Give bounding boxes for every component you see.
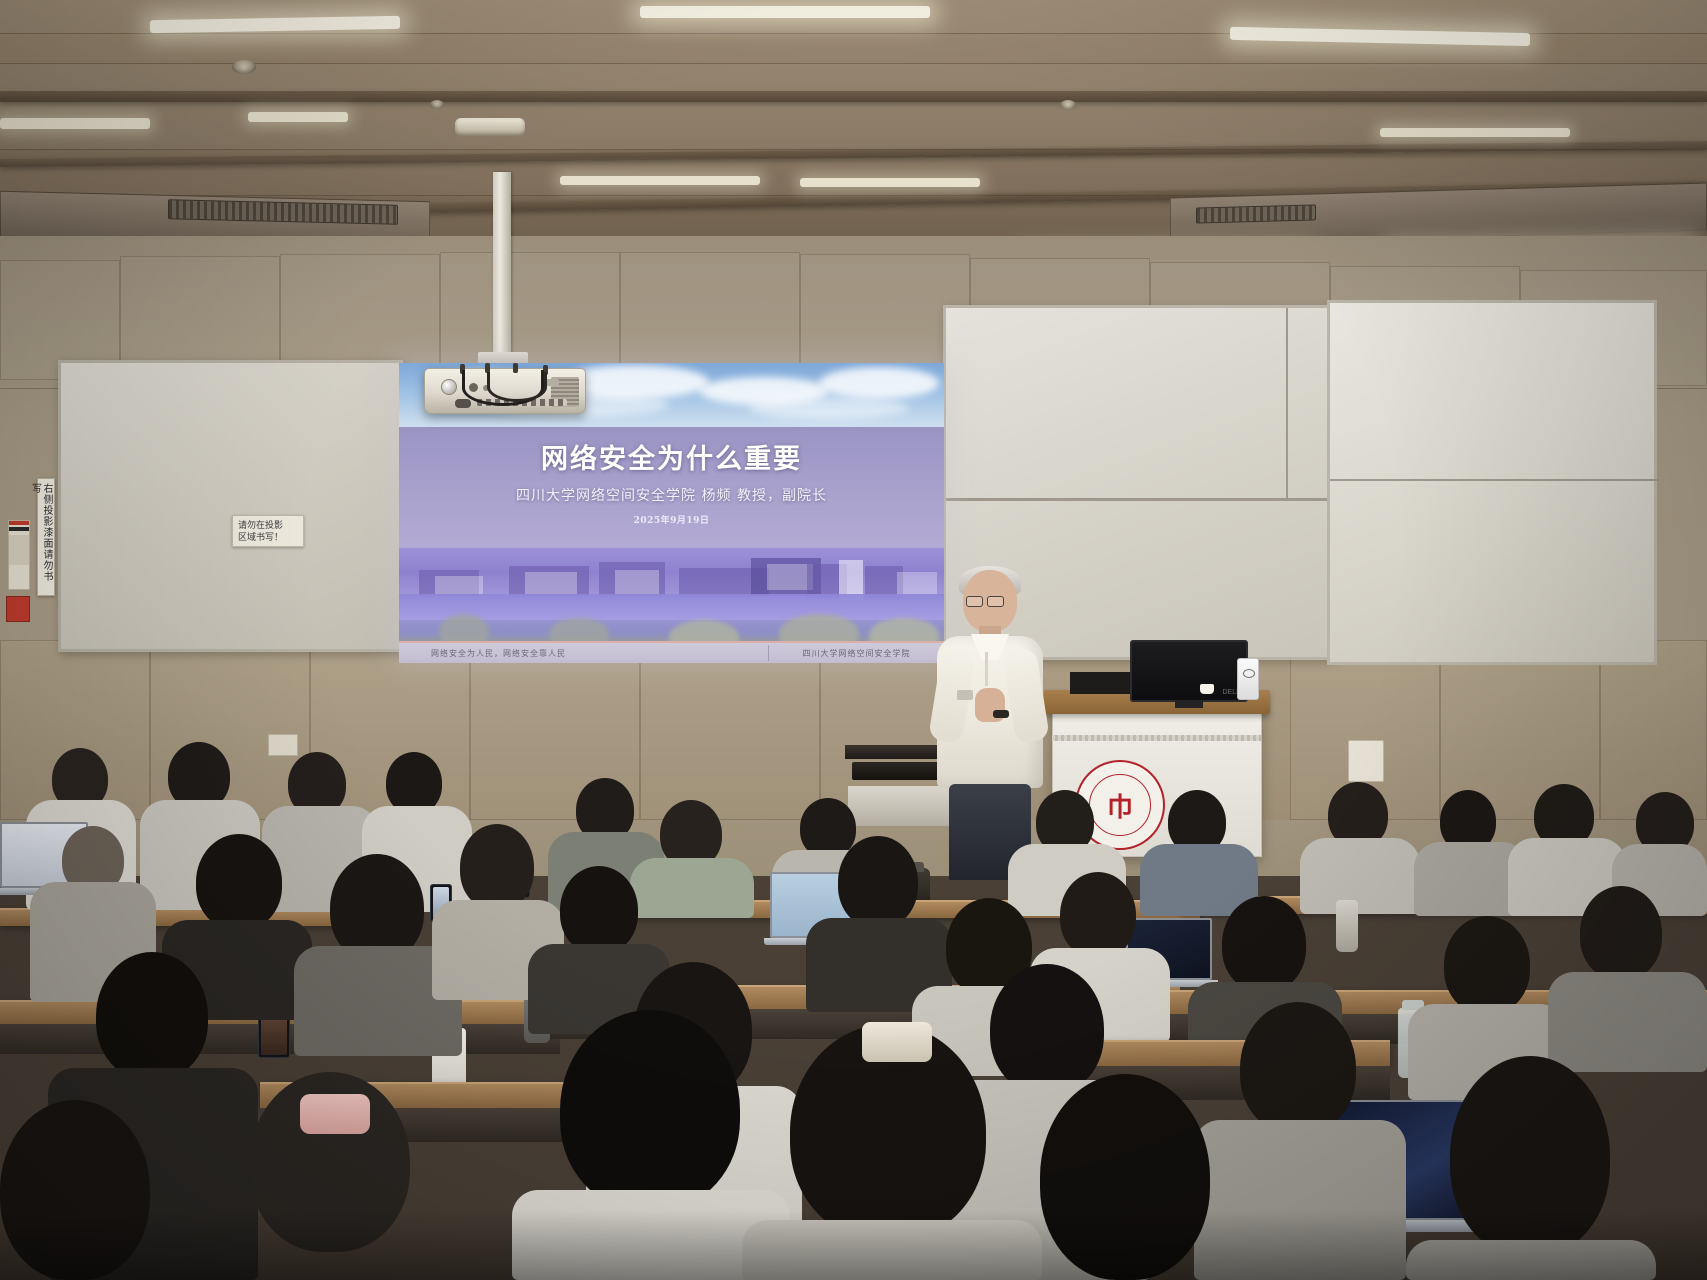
student-head-front: [560, 1010, 740, 1210]
air-vent-right: [1196, 204, 1316, 223]
ceiling-light: [560, 176, 760, 185]
projector-ceiling-plate: [455, 118, 525, 136]
student-body: [1194, 1120, 1406, 1280]
ceiling: [0, 0, 1707, 250]
wristwatch: [993, 710, 1009, 718]
glasses-icon: [987, 596, 1004, 607]
smoke-detector: [1060, 100, 1076, 110]
whiteboard-far-right: [1327, 300, 1657, 665]
smoke-detector: [430, 100, 444, 109]
ceiling-speaker: [232, 60, 256, 74]
student-head: [1444, 916, 1530, 1014]
wall-switch[interactable]: [268, 734, 298, 756]
glasses-icon: [966, 596, 983, 607]
projection-area-note-line1: 请勿在投影: [238, 519, 298, 531]
water-bottle: [1336, 900, 1358, 952]
slide-title: 网络安全为什么重要: [399, 437, 944, 476]
student-head: [460, 824, 534, 910]
wall-socket[interactable]: [1348, 740, 1384, 782]
student-body: [630, 858, 754, 918]
projector-lens: [441, 379, 457, 395]
student-body-front: [1406, 1240, 1656, 1280]
projection-area-note: 请勿在投影 区域书写！: [232, 515, 304, 547]
projector-mount-pole: [493, 172, 511, 360]
projector-cable: [487, 372, 547, 402]
student-head: [386, 752, 442, 814]
student-head: [1222, 896, 1306, 992]
ceiling-light: [0, 118, 150, 129]
ceiling-light: [640, 6, 930, 18]
student-head: [838, 836, 918, 928]
student-head: [990, 964, 1104, 1094]
whiteboard-left: [58, 360, 403, 652]
podium-monitor: DELL: [1130, 640, 1248, 702]
hair-accessory: [300, 1094, 370, 1134]
student-head-front: [0, 1100, 150, 1280]
no-writing-sign-left: 右侧投影漆面请勿书写: [37, 478, 55, 596]
shirt-logo: [957, 690, 973, 700]
door-sticker: [8, 520, 30, 590]
student-head: [1240, 1002, 1356, 1134]
student-head-front: [1450, 1056, 1610, 1256]
student-head: [1580, 886, 1662, 980]
slide-footer-right: 四川大学网络空间安全学院: [769, 648, 944, 659]
slide-footer: 网络安全为人民，网络安全靠人民 四川大学网络空间安全学院: [399, 641, 944, 663]
ceiling-light: [248, 112, 348, 122]
red-warning-sticker: [6, 596, 30, 622]
student-head: [800, 798, 856, 858]
ceiling-light: [800, 178, 980, 187]
lecture-hall-photo: 右侧投影漆面请勿书写 左侧投影漆面请勿书写 请勿在投影 区域书写！ 网络安全为什…: [0, 0, 1707, 1280]
presenter-placket: [985, 652, 988, 686]
slide-subtitle: 四川大学网络空间安全学院 杨频 教授，副院长: [399, 485, 944, 505]
wireless-mic-receiver[interactable]: [1237, 658, 1259, 700]
hair-clip: [862, 1022, 932, 1062]
student-body-front: [742, 1220, 1042, 1280]
podium-trim: [1052, 735, 1262, 741]
mic-indicator-icon: [1243, 669, 1255, 678]
ceiling-light: [1380, 128, 1570, 137]
slide-footer-left: 网络安全为人民，网络安全靠人民: [399, 648, 768, 659]
student-head: [560, 866, 638, 954]
student-body: [1300, 838, 1420, 914]
paper-cup: [1200, 684, 1214, 694]
student-body: [1548, 972, 1707, 1072]
student-head-front: [1040, 1074, 1210, 1280]
slide-date: 2025年9月19日: [399, 513, 944, 526]
projection-area-note-line2: 区域书写！: [238, 531, 298, 543]
presenter: [935, 570, 1045, 870]
monitor-stand: [1175, 700, 1203, 708]
student-head: [1060, 872, 1136, 958]
university-emblem-glyph: 巾: [1089, 774, 1151, 836]
student-head: [96, 952, 208, 1080]
student-head: [196, 834, 282, 930]
